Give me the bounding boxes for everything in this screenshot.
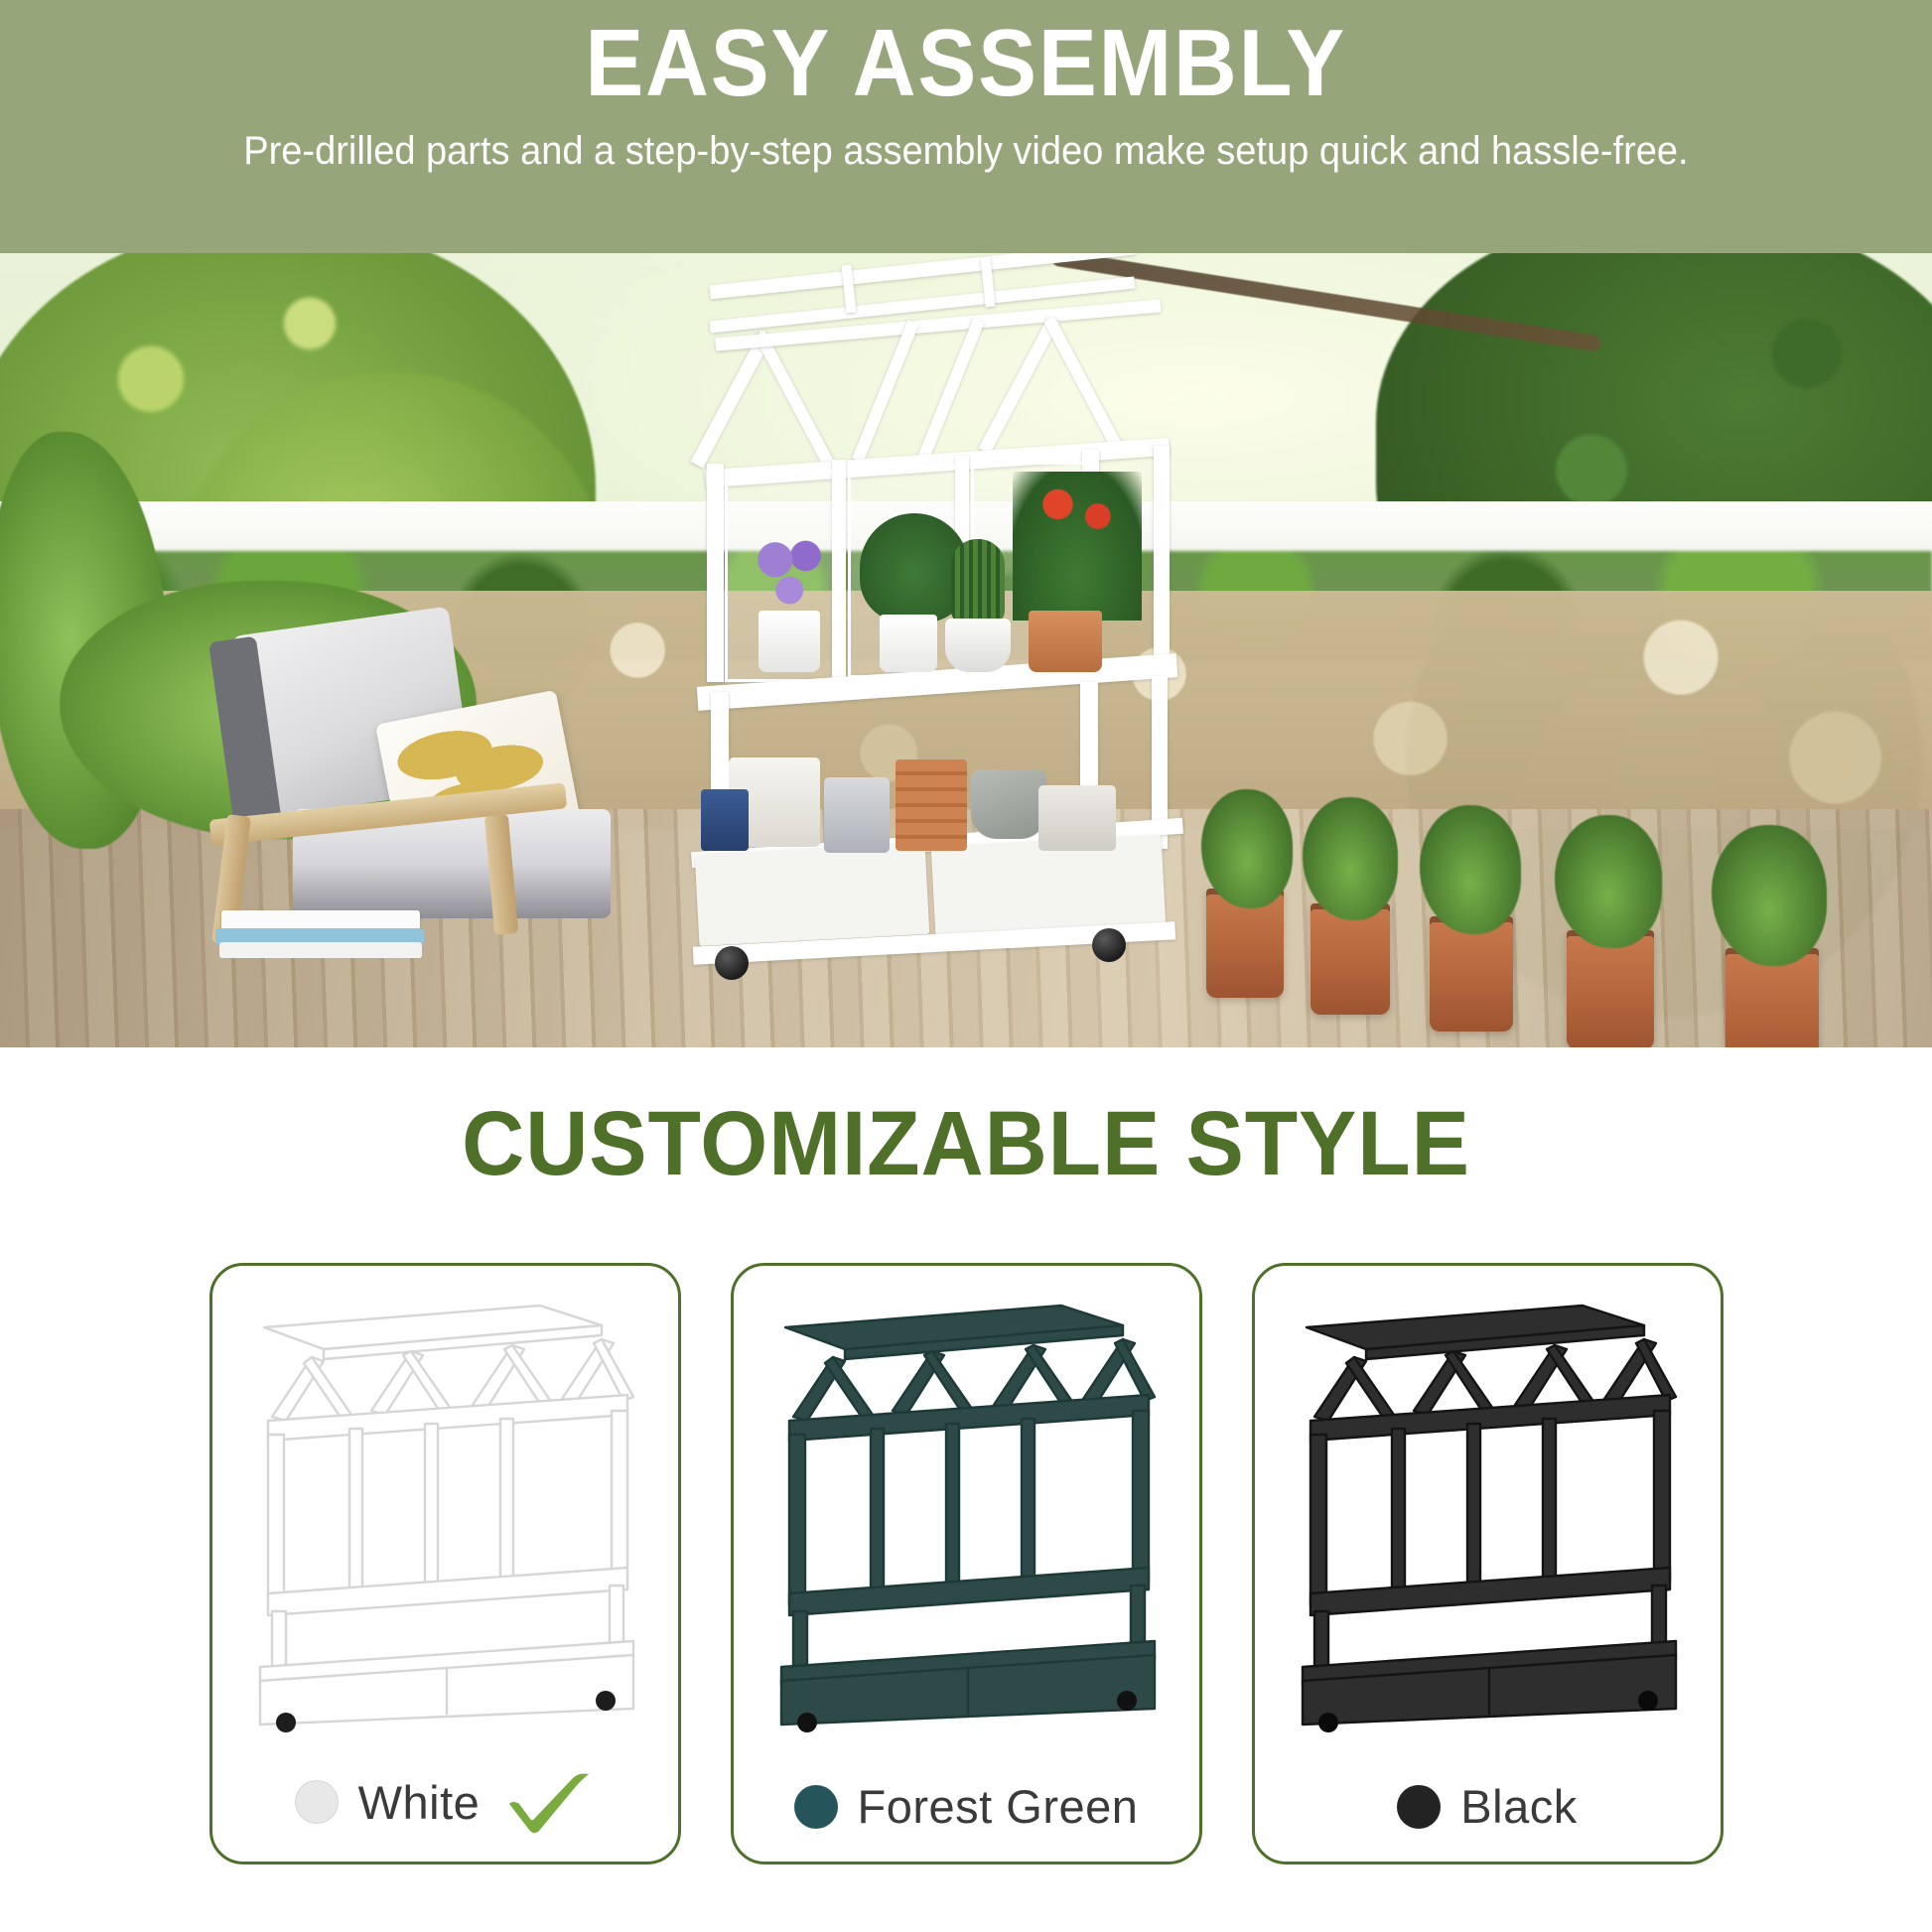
greenhouse-cart-forest-green-icon bbox=[734, 1266, 1202, 1732]
selected-check-icon bbox=[503, 1770, 595, 1834]
terracotta-pot bbox=[1029, 611, 1102, 672]
caster-wheel bbox=[715, 946, 749, 980]
caster-wheel bbox=[1092, 928, 1126, 962]
variant-card-list: White bbox=[0, 1263, 1932, 1868]
product-feature-page: EASY ASSEMBLY Pre-drilled parts and a st… bbox=[0, 0, 1932, 1932]
potted-plant bbox=[1555, 815, 1662, 948]
book-stack bbox=[219, 942, 422, 958]
greenhouse-cart-black-icon bbox=[1255, 1266, 1724, 1732]
planter-box-front-panel bbox=[695, 843, 929, 946]
potted-plant bbox=[1201, 789, 1293, 908]
roof-slope-right bbox=[979, 317, 1060, 455]
supply-box-blue bbox=[701, 789, 749, 851]
variant-name: Forest Green bbox=[858, 1779, 1139, 1834]
white-pot bbox=[880, 615, 937, 672]
potted-plant bbox=[1420, 805, 1521, 934]
cabinet-post-far-right bbox=[1154, 446, 1170, 670]
lounge-chair bbox=[174, 621, 621, 968]
red-flower-plant bbox=[1013, 472, 1142, 621]
variant-image-white bbox=[212, 1266, 678, 1732]
variant-card-forest-green[interactable]: Forest Green bbox=[731, 1263, 1202, 1864]
roof-slope-left bbox=[691, 330, 773, 468]
stacked-terracotta-pots bbox=[896, 759, 967, 851]
header-banner: EASY ASSEMBLY Pre-drilled parts and a st… bbox=[0, 0, 1932, 253]
color-swatch-black bbox=[1397, 1785, 1441, 1829]
section-title: CUSTOMIZABLE STYLE bbox=[49, 1092, 1884, 1196]
stone-bowl bbox=[971, 769, 1046, 839]
variant-label-forest-green: Forest Green bbox=[734, 1779, 1199, 1834]
variant-image-black bbox=[1255, 1266, 1721, 1732]
variant-label-black: Black bbox=[1255, 1779, 1721, 1834]
color-swatch-forest-green bbox=[794, 1785, 838, 1829]
white-pot bbox=[945, 619, 1011, 672]
potted-plant bbox=[1303, 797, 1398, 920]
greenhouse-cart-white-icon bbox=[212, 1266, 681, 1732]
white-pot bbox=[759, 611, 820, 672]
variant-card-white[interactable]: White bbox=[209, 1263, 681, 1864]
hero-photo bbox=[0, 253, 1932, 1047]
color-swatch-white bbox=[295, 1780, 339, 1824]
variant-label-white: White bbox=[212, 1770, 678, 1834]
book-stack bbox=[221, 910, 420, 930]
potted-plant bbox=[1712, 825, 1827, 966]
variant-name: Black bbox=[1460, 1779, 1577, 1834]
page-subtitle: Pre-drilled parts and a step-by-step ass… bbox=[243, 129, 1688, 174]
cabinet-post-left bbox=[707, 464, 724, 682]
soil-bag bbox=[1038, 785, 1116, 851]
roof-slope-mid bbox=[852, 320, 918, 463]
variant-name: White bbox=[358, 1775, 481, 1830]
roof-slope-mid2 bbox=[917, 318, 984, 461]
variant-card-black[interactable]: Black bbox=[1252, 1263, 1724, 1864]
roof-slope-left-inner bbox=[754, 331, 834, 468]
variant-image-forest-green bbox=[734, 1266, 1199, 1732]
cactus-plant bbox=[951, 539, 1005, 624]
watering-can bbox=[824, 777, 890, 853]
page-title: EASY ASSEMBLY bbox=[586, 12, 1347, 115]
greenhouse-cart-product bbox=[685, 253, 1201, 988]
roof-slope-right-inner bbox=[1043, 317, 1124, 454]
